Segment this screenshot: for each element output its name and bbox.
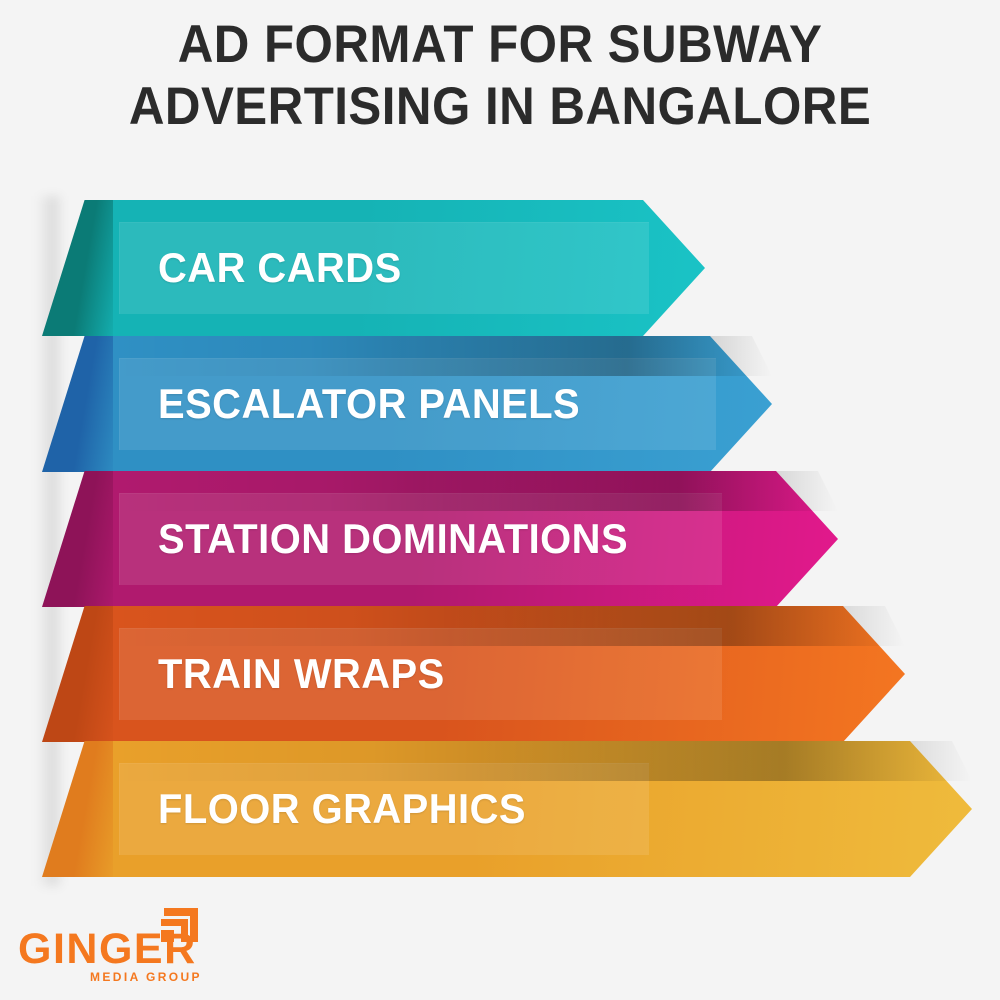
banner-label: ESCALATOR PANELS (158, 336, 580, 472)
banner-left-fold (42, 606, 118, 742)
brand-logo: GINGER MEDIA GROUP (18, 908, 258, 984)
logo-wordmark: GINGER (18, 928, 197, 971)
banner-left-fold (42, 471, 118, 607)
banner-label: FLOOR GRAPHICS (158, 741, 526, 877)
banner-label: TRAIN WRAPS (158, 606, 445, 742)
logo-tagline: MEDIA GROUP (90, 970, 202, 984)
banner-left-fold (42, 200, 118, 336)
banner-left-fold (42, 336, 118, 472)
banner-label: STATION DOMINATIONS (158, 471, 628, 607)
infographic-page: AD FORMAT FOR SUBWAY ADVERTISING IN BANG… (0, 0, 1000, 1000)
banner-stack: CAR CARDSESCALATOR PANELSSTATION DOMINAT… (0, 0, 1000, 1000)
banner-left-fold (42, 741, 118, 877)
banner-label: CAR CARDS (158, 200, 402, 336)
